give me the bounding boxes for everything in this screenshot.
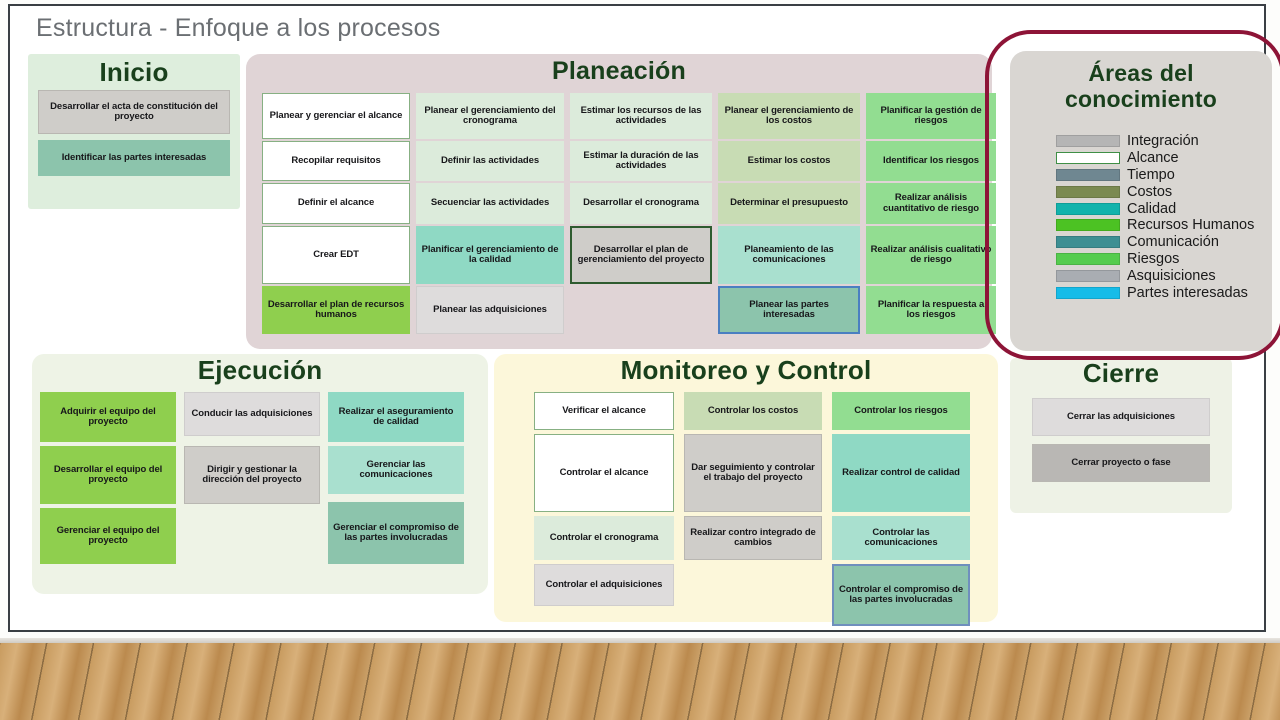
process-box[interactable]: Controlar el adquisiciones bbox=[534, 564, 674, 606]
legend-item: Integración bbox=[1056, 133, 1254, 150]
process-box[interactable]: Verificar el alcance bbox=[534, 392, 674, 430]
process-box[interactable]: Gerenciar las comunicaciones bbox=[328, 446, 464, 494]
legend-swatch bbox=[1056, 253, 1120, 265]
legend-item: Partes interesadas bbox=[1056, 284, 1254, 301]
process-box[interactable]: Cerrar proyecto o fase bbox=[1032, 444, 1210, 482]
process-box[interactable]: Realizar análisis cuantitativo de riesgo bbox=[866, 183, 996, 224]
group-planeacion-heading: Planeación bbox=[246, 58, 992, 84]
group-cierre-heading: Cierre bbox=[1010, 360, 1232, 387]
process-box[interactable]: Conducir las adquisiciones bbox=[184, 392, 320, 436]
wooden-floor-background bbox=[0, 638, 1280, 720]
legend-swatch bbox=[1056, 152, 1120, 164]
process-box[interactable]: Desarrollar el equipo del proyecto bbox=[40, 446, 176, 504]
legend-item: Comunicación bbox=[1056, 234, 1254, 251]
process-box[interactable]: Planear las adquisiciones bbox=[416, 286, 564, 334]
process-box[interactable]: Controlar los riesgos bbox=[832, 392, 970, 430]
legend-label: Calidad bbox=[1127, 201, 1176, 217]
process-box[interactable]: Realizar control de calidad bbox=[832, 434, 970, 512]
process-box[interactable]: Controlar los costos bbox=[684, 392, 822, 430]
legend-label: Asquisiciones bbox=[1127, 268, 1216, 284]
process-box[interactable]: Planificar la gestión de riesgos bbox=[866, 93, 996, 139]
group-ejecucion: Ejecución Adquirir el equipo del proyect… bbox=[32, 354, 488, 594]
process-box[interactable]: Planear el gerenciamiento del cronograma bbox=[416, 93, 564, 139]
group-planeacion: Planeación Planear y gerenciar el alcanc… bbox=[246, 54, 992, 349]
legend-item: Costos bbox=[1056, 183, 1254, 200]
process-box[interactable]: Controlar el alcance bbox=[534, 434, 674, 512]
legend-panel: Áreas del conocimiento IntegraciónAlcanc… bbox=[1010, 51, 1272, 351]
process-box[interactable]: Planear y gerenciar el alcance bbox=[262, 93, 410, 139]
process-box[interactable]: Planeamiento de las comunicaciones bbox=[718, 226, 860, 284]
legend-label: Tiempo bbox=[1127, 167, 1175, 183]
legend-label: Costos bbox=[1127, 184, 1172, 200]
legend-swatch bbox=[1056, 270, 1120, 282]
process-box[interactable]: Gerenciar el compromiso de las partes in… bbox=[328, 502, 464, 564]
slide-stage: Estructura - Enfoque a los procesos Inic… bbox=[0, 0, 1280, 720]
floor-edge bbox=[0, 638, 1280, 643]
group-inicio: Inicio Desarrollar el acta de constituci… bbox=[28, 54, 240, 209]
group-cierre: Cierre Cerrar las adquisicionesCerrar pr… bbox=[1010, 358, 1232, 513]
process-box[interactable]: Desarrollar el plan de recursos humanos bbox=[262, 286, 410, 334]
process-box[interactable]: Definir las actividades bbox=[416, 141, 564, 181]
legend-item: Riesgos bbox=[1056, 251, 1254, 268]
legend-label: Recursos Humanos bbox=[1127, 217, 1254, 233]
process-box[interactable]: Realizar el aseguramiento de calidad bbox=[328, 392, 464, 442]
legend-swatch bbox=[1056, 236, 1120, 248]
presentation-slide: Estructura - Enfoque a los procesos Inic… bbox=[8, 4, 1266, 632]
legend-heading: Áreas del conocimiento bbox=[1010, 61, 1272, 113]
legend-item: Recursos Humanos bbox=[1056, 217, 1254, 234]
process-box[interactable]: Realizar análisis cualitativo de riesgo bbox=[866, 226, 996, 284]
process-box[interactable]: Gerenciar el equipo del proyecto bbox=[40, 508, 176, 564]
process-box[interactable]: Planificar la respuesta a los riesgos bbox=[866, 286, 996, 334]
process-box[interactable]: Desarrollar el cronograma bbox=[570, 183, 712, 224]
process-box[interactable]: Estimar la duración de las actividades bbox=[570, 141, 712, 181]
legend-swatch bbox=[1056, 287, 1120, 299]
legend-swatch bbox=[1056, 169, 1120, 181]
process-box[interactable]: Controlar el compromiso de las partes in… bbox=[832, 564, 970, 626]
process-box[interactable]: Controlar el cronograma bbox=[534, 516, 674, 560]
process-box[interactable]: Identificar los riesgos bbox=[866, 141, 996, 181]
process-box[interactable]: Crear EDT bbox=[262, 226, 410, 284]
group-ejecucion-heading: Ejecución bbox=[32, 357, 488, 384]
process-box[interactable]: Estimar los recursos de las actividades bbox=[570, 93, 712, 139]
process-box[interactable]: Desarrollar el plan de gerenciamiento de… bbox=[570, 226, 712, 284]
legend-swatch bbox=[1056, 135, 1120, 147]
process-box[interactable]: Dar seguimiento y controlar el trabajo d… bbox=[684, 434, 822, 512]
legend-swatch bbox=[1056, 219, 1120, 231]
legend-label: Integración bbox=[1127, 133, 1199, 149]
legend-item: Tiempo bbox=[1056, 167, 1254, 184]
group-inicio-heading: Inicio bbox=[28, 59, 240, 86]
process-box[interactable]: Determinar el presupuesto bbox=[718, 183, 860, 224]
group-monitoreo: Monitoreo y Control Verificar el alcance… bbox=[494, 354, 998, 622]
process-box[interactable]: Realizar contro integrado de cambios bbox=[684, 516, 822, 560]
process-box[interactable]: Planear las partes interesadas bbox=[718, 286, 860, 334]
group-monitoreo-heading: Monitoreo y Control bbox=[494, 357, 998, 384]
legend-swatch bbox=[1056, 186, 1120, 198]
process-box[interactable]: Identificar las partes interesadas bbox=[38, 140, 230, 176]
legend-item: Asquisiciones bbox=[1056, 267, 1254, 284]
legend-label: Alcance bbox=[1127, 150, 1179, 166]
process-box[interactable]: Planificar el gerenciamiento de la calid… bbox=[416, 226, 564, 284]
process-box[interactable]: Controlar las comunicaciones bbox=[832, 516, 970, 560]
legend-list: IntegraciónAlcanceTiempoCostosCalidadRec… bbox=[1056, 133, 1254, 301]
process-box[interactable]: Definir el alcance bbox=[262, 183, 410, 224]
process-box[interactable]: Recopilar requisitos bbox=[262, 141, 410, 181]
process-box[interactable]: Secuenciar las actividades bbox=[416, 183, 564, 224]
process-box[interactable]: Planear el gerenciamiento de los costos bbox=[718, 93, 860, 139]
process-box[interactable]: Estimar los costos bbox=[718, 141, 860, 181]
process-box[interactable]: Adquirir el equipo del proyecto bbox=[40, 392, 176, 442]
legend-label: Comunicación bbox=[1127, 234, 1219, 250]
legend-item: Calidad bbox=[1056, 200, 1254, 217]
process-box[interactable]: Dirigir y gestionar la dirección del pro… bbox=[184, 446, 320, 504]
legend-label: Riesgos bbox=[1127, 251, 1179, 267]
legend-label: Partes interesadas bbox=[1127, 285, 1248, 301]
process-box[interactable]: Desarrollar el acta de constitución del … bbox=[38, 90, 230, 134]
legend-item: Alcance bbox=[1056, 150, 1254, 167]
legend-swatch bbox=[1056, 203, 1120, 215]
process-box[interactable]: Cerrar las adquisiciones bbox=[1032, 398, 1210, 436]
page-title: Estructura - Enfoque a los procesos bbox=[36, 14, 440, 43]
